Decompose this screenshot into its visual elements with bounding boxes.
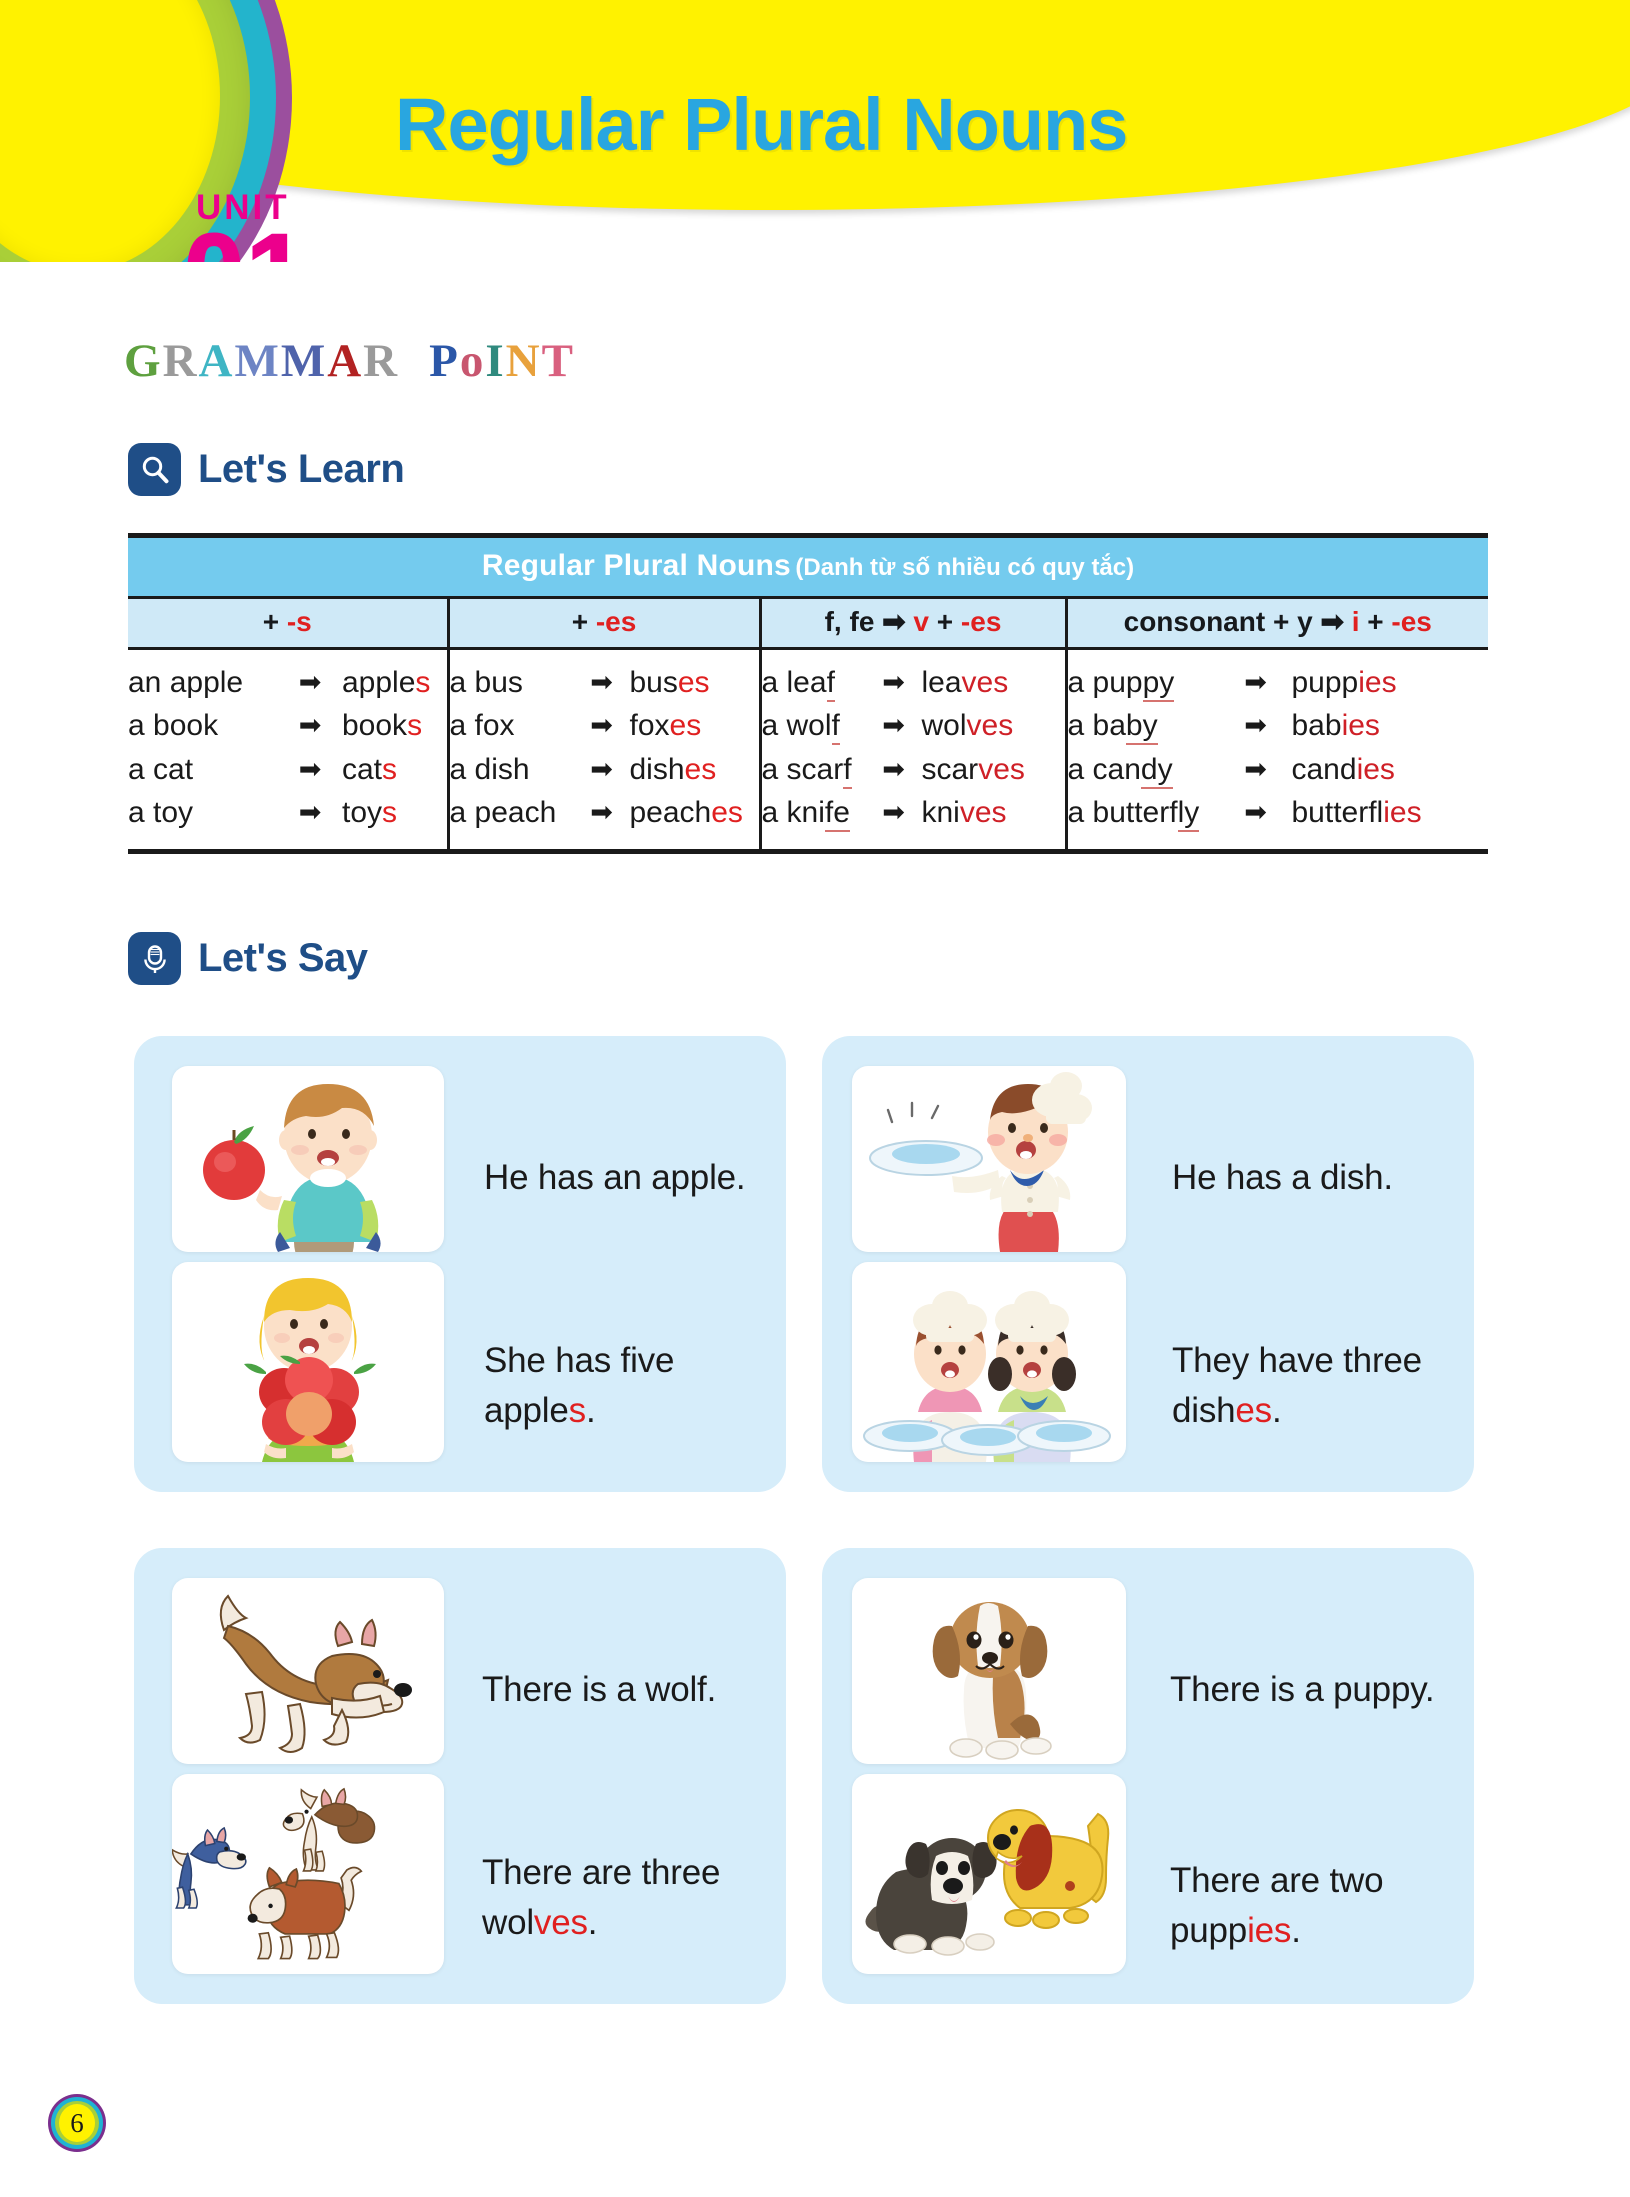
sentence-she-has-five-apples: She has five apples. [484,1336,724,1435]
rule-4-arrow-icon: ➡ [1320,606,1343,637]
table-title-cell: Regular Plural Nouns (Danh từ số nhiều c… [128,536,1488,598]
plural-stem: butterfl [1292,796,1384,829]
grammar-point-letter-0: G [124,334,163,388]
examples-column-s: an apple➡applesa book➡booksa cat➡catsa t… [128,649,448,852]
singular-marked-ending: f [832,709,840,745]
arrow-icon: ➡ [1220,794,1292,832]
worksheet-page: UNIT 01 Regular Plural Nouns GRAMMARPoIN… [0,0,1630,2197]
plural-word: cats [342,751,430,789]
lets-say-panel-dishes: He has a dish. They have three dishes. [822,1036,1474,1492]
plural-suffix: s [415,666,430,699]
plural-word: dishes [630,751,743,789]
singular-word: a cat [128,751,278,789]
singular-stem: a can [1068,753,1141,786]
arrow-icon: ➡ [278,707,342,745]
unit-number: 01 [184,218,308,262]
grammar-point-letter-5: A [327,334,363,388]
page-number-badge: 6 [48,2094,106,2152]
sentence-accent: ies [1247,1911,1291,1950]
image-card-puppy [852,1578,1126,1764]
singular-stem: a wol [762,709,832,742]
plural-word: books [342,707,430,745]
singular-word: a candy [1068,751,1220,789]
arrow-icon: ➡ [574,664,630,702]
word-grid-es: a bus➡busesa fox➡foxesa dish➡dishesa pea… [450,664,759,833]
sentence-accent: s [569,1391,586,1430]
table-rule-row: + -s + -es f, fe ➡ v + -es consonant + y… [128,598,1488,649]
regular-plural-nouns-table: Regular Plural Nouns (Danh từ số nhiều c… [128,533,1488,854]
singular-word: a leaf [762,664,866,702]
arrow-icon: ➡ [866,794,922,832]
sentence-text: He has an apple. [484,1158,745,1197]
plural-word: peaches [630,794,743,832]
arrow-icon: ➡ [574,794,630,832]
arrow-icon: ➡ [866,707,922,745]
plural-word: apples [342,664,430,702]
plural-stem: cat [342,753,382,786]
rule-3-arrow-icon: ➡ [882,606,905,637]
rule-3-v: v [913,606,929,637]
singular-stem: a lea [762,666,827,699]
singular-word: a peach [450,794,574,832]
plural-suffix: s [382,753,397,786]
section-title-lets-learn: Let's Learn [198,447,404,492]
rule-1-plain: + [263,606,287,637]
singular-stem: a scar [762,753,844,786]
sentence-he-has-apple: He has an apple. [484,1153,764,1203]
plural-word: puppies [1292,664,1422,702]
singular-word: a scarf [762,751,866,789]
examples-column-ies: a puppy➡puppiesa baby➡babiesa candy➡cand… [1066,649,1488,852]
sentence-tail: . [586,1391,596,1430]
plural-suffix: ies [1358,666,1396,699]
microphone-icon [128,932,181,985]
plural-stem: lea [922,666,962,699]
image-card-wolf [172,1578,444,1764]
singular-word: a puppy [1068,664,1220,702]
singular-marked-ending: py [1143,666,1175,702]
grammar-point-title: GRAMMARPoINT [124,334,575,388]
word-grid-ves: a leaf➡leavesa wolf➡wolvesa scarf➡scarve… [762,664,1065,833]
singular-stem: a kni [762,796,825,829]
grammar-point-letter-8: P [429,334,460,388]
singular-word: a baby [1068,707,1220,745]
singular-word: a knife [762,794,866,832]
plural-suffix: s [382,796,397,829]
sentence-tail: . [588,1903,598,1942]
plural-suffix: es [711,796,743,829]
plural-suffix: s [407,709,422,742]
table-title-vietnamese: (Danh từ số nhiều có quy tắc) [795,554,1134,581]
rule-header-plus-s: + -s [128,598,448,649]
singular-marked-ending: dy [1141,753,1173,789]
page-header-banner: UNIT 01 Regular Plural Nouns [0,0,1630,262]
sentence-there-is-wolf: There is a wolf. [482,1665,762,1715]
arrow-icon: ➡ [1220,707,1292,745]
singular-stem: a ba [1068,709,1126,742]
singular-word: a butterfly [1068,794,1220,832]
singular-word: an apple [128,664,278,702]
table-title: Regular Plural Nouns [482,549,791,582]
arrow-icon: ➡ [866,664,922,702]
image-card-boy-apple [172,1066,444,1252]
word-grid-ies: a puppy➡puppiesa baby➡babiesa candy➡cand… [1068,664,1489,833]
grammar-point-letter-12: T [542,334,575,388]
singular-word: a wolf [762,707,866,745]
sentence-they-have-three-dishes: They have three dishes. [1172,1336,1462,1435]
sentence-text: He has a dish. [1172,1158,1393,1197]
rule-header-f-to-v: f, fe ➡ v + -es [760,598,1066,649]
grammar-point-letter-9: o [460,334,486,388]
plural-suffix: ves [978,753,1025,786]
grammar-point-letter-10: I [485,334,505,388]
plural-word: scarves [922,751,1025,789]
plural-stem: pupp [1292,666,1359,699]
section-lets-learn-heading: Let's Learn [128,443,404,496]
singular-marked-ending: f [827,666,835,702]
rule-2-accent: -es [596,606,636,637]
plural-word: babies [1292,707,1422,745]
plural-suffix: ies [1383,796,1421,829]
arrow-icon: ➡ [866,751,922,789]
plural-stem: wol [922,709,967,742]
plural-word: leaves [922,664,1025,702]
plural-suffix: ves [962,666,1009,699]
sentence-text: There is a wolf. [482,1670,716,1709]
rule-1-accent: -s [287,606,312,637]
plural-suffix: ies [1357,753,1395,786]
plural-stem: apple [342,666,415,699]
plural-suffix: es [678,666,710,699]
sentence-there-is-puppy: There is a puppy. [1170,1665,1460,1715]
singular-word: a dish [450,751,574,789]
arrow-icon: ➡ [574,707,630,745]
image-card-girl-five-apples [172,1262,444,1462]
plural-stem: fox [630,709,670,742]
sentence-text: There is a puppy. [1170,1670,1434,1709]
page-title: Regular Plural Nouns [395,82,1127,167]
singular-marked-ending: f [843,753,851,789]
sentence-he-has-dish: He has a dish. [1172,1153,1452,1203]
lets-say-panel-wolves: There is a wolf. There are three wolves. [134,1548,786,2004]
rule-header-y-to-i: consonant + y ➡ i + -es [1066,598,1488,649]
grammar-point-letter-3: M [234,334,280,388]
magnifier-icon [128,443,181,496]
sentence-accent: es [1235,1391,1272,1430]
image-card-two-puppies [852,1774,1126,1974]
rule-header-plus-es: + -es [448,598,760,649]
rule-4-suffix: -es [1391,606,1431,637]
rule-4-head: consonant + y [1124,606,1313,637]
image-card-chef-dish [852,1066,1126,1252]
singular-marked-ending: fe [825,796,850,832]
arrow-icon: ➡ [278,794,342,832]
table-examples-row: an apple➡applesa book➡booksa cat➡catsa t… [128,649,1488,852]
plural-word: butterflies [1292,794,1422,832]
plural-stem: peach [630,796,712,829]
arrow-icon: ➡ [1220,751,1292,789]
rule-4-i: i [1352,606,1360,637]
lets-say-panel-apples: He has an apple. She has five apples. [134,1036,786,1492]
plural-word: buses [630,664,743,702]
arrow-icon: ➡ [1220,664,1292,702]
singular-word: a book [128,707,278,745]
plural-word: foxes [630,707,743,745]
rule-3-suffix: -es [961,606,1001,637]
grammar-point-letter-6: R [363,334,399,388]
plural-stem: bus [630,666,678,699]
grammar-point-letter-11: N [506,334,542,388]
plural-suffix: ves [960,796,1007,829]
singular-marked-ending: by [1126,709,1158,745]
image-card-three-wolves [172,1774,444,1974]
rule-2-plain: + [572,606,596,637]
plural-word: candies [1292,751,1422,789]
plural-suffix: es [685,753,717,786]
plural-stem: toy [342,796,382,829]
plural-stem: book [342,709,407,742]
word-grid-s: an apple➡applesa book➡booksa cat➡catsa t… [128,664,447,833]
singular-stem: a butterf [1068,796,1178,829]
singular-stem: a pup [1068,666,1143,699]
table-title-row: Regular Plural Nouns (Danh từ số nhiều c… [128,536,1488,598]
sentence-accent: ves [534,1903,588,1942]
sentence-tail: . [1272,1391,1282,1430]
arrow-icon: ➡ [278,664,342,702]
plural-stem: scar [922,753,979,786]
singular-word: a toy [128,794,278,832]
lets-say-panel-puppies: There is a puppy. There are two puppies. [822,1548,1474,2004]
plural-stem: bab [1292,709,1342,742]
section-lets-say-heading: Let's Say [128,932,368,985]
plural-suffix: ies [1342,709,1380,742]
examples-column-ves: a leaf➡leavesa wolf➡wolvesa scarf➡scarve… [760,649,1066,852]
sentence-there-are-two-puppies: There are two puppies. [1170,1856,1420,1955]
singular-marked-ending: ly [1178,796,1200,832]
arrow-icon: ➡ [278,751,342,789]
grammar-point-letter-4: M [281,334,327,388]
plural-stem: kni [922,796,960,829]
arrow-icon: ➡ [574,751,630,789]
sentence-text: They have three dish [1172,1341,1422,1430]
plural-word: toys [342,794,430,832]
sentence-tail: . [1291,1911,1301,1950]
singular-word: a fox [450,707,574,745]
grammar-point-letter-1: R [163,334,199,388]
section-title-lets-say: Let's Say [198,936,368,981]
sentence-text: There are three wol [482,1853,720,1942]
plural-word: knives [922,794,1025,832]
examples-column-es: a bus➡busesa fox➡foxesa dish➡dishesa pea… [448,649,760,852]
plural-stem: dish [630,753,685,786]
plural-word: wolves [922,707,1025,745]
plural-stem: cand [1292,753,1357,786]
plural-suffix: es [670,709,702,742]
plural-suffix: ves [967,709,1014,742]
singular-word: a bus [450,664,574,702]
sentence-there-are-three-wolves: There are three wolves. [482,1848,752,1947]
page-number: 6 [48,2094,106,2152]
rule-3-head: f, fe [825,606,875,637]
image-card-two-chefs-three-dishes [852,1262,1126,1462]
grammar-point-letter-2: A [199,334,235,388]
